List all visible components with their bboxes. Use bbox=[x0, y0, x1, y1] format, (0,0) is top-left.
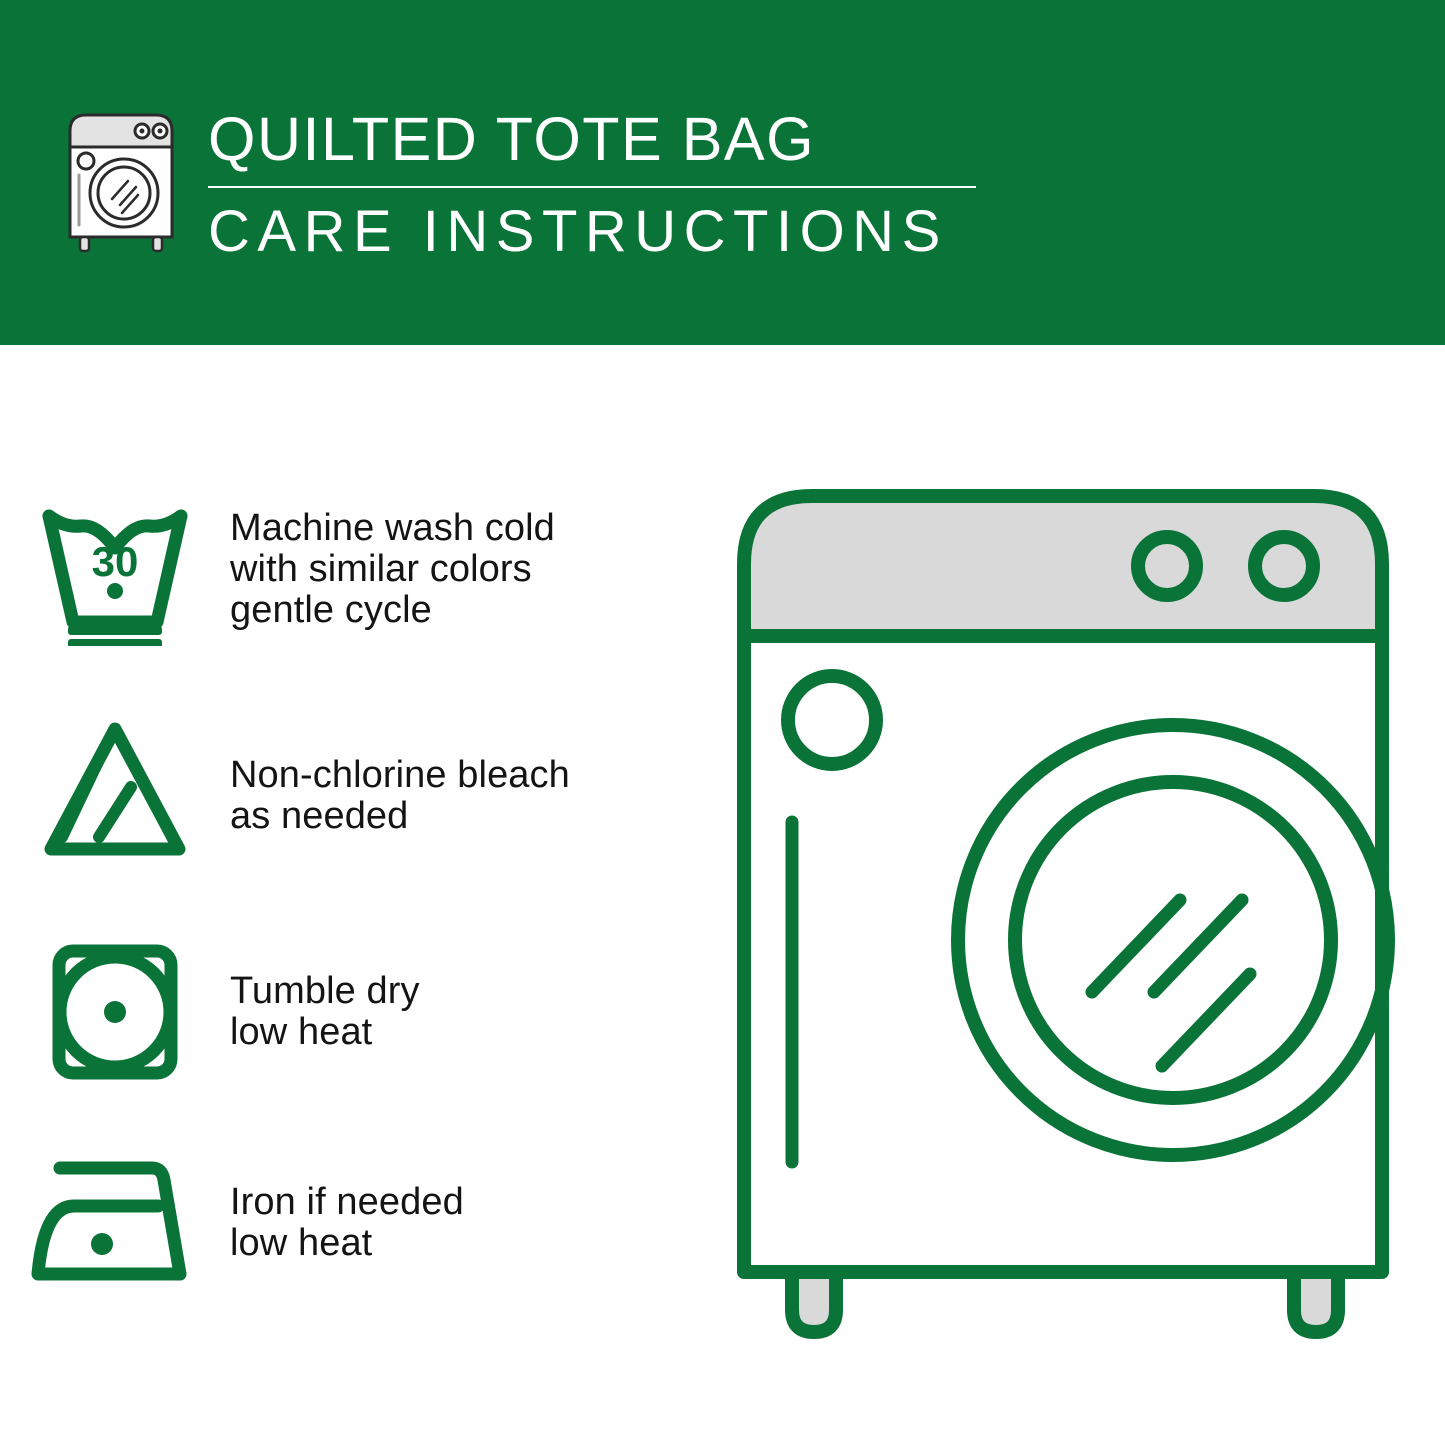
iron-icon bbox=[0, 1152, 230, 1286]
care-label-iron: Iron if needed low heat bbox=[230, 1152, 464, 1264]
care-line: Machine wash cold bbox=[230, 508, 555, 549]
care-row-iron: Iron if needed low heat bbox=[0, 1152, 700, 1286]
washing-machine-icon bbox=[62, 103, 180, 255]
tumble-dry-icon bbox=[0, 933, 230, 1087]
page-subtitle: CARE INSTRUCTIONS bbox=[208, 198, 998, 266]
care-row-bleach: Non-chlorine bleach as needed bbox=[0, 711, 700, 865]
bleach-triangle-icon bbox=[0, 711, 230, 865]
care-line: as needed bbox=[230, 796, 570, 837]
care-label-bleach: Non-chlorine bleach as needed bbox=[230, 711, 570, 837]
care-row-machine-wash: 30 Machine wash cold with similar colors… bbox=[0, 492, 700, 646]
care-label-machine-wash: Machine wash cold with similar colors ge… bbox=[230, 492, 555, 631]
care-line: Tumble dry bbox=[230, 971, 420, 1012]
care-line: low heat bbox=[230, 1012, 420, 1053]
header-banner: QUILTED TOTE BAG CARE INSTRUCTIONS bbox=[0, 0, 1445, 345]
title-divider bbox=[208, 186, 976, 188]
page-title: QUILTED TOTE BAG bbox=[208, 104, 998, 174]
header-text: QUILTED TOTE BAG CARE INSTRUCTIONS bbox=[208, 104, 998, 266]
wash-temperature-label: 30 bbox=[92, 538, 139, 585]
care-line: low heat bbox=[230, 1223, 464, 1264]
knob-icon bbox=[1255, 537, 1313, 595]
wash-tub-icon: 30 bbox=[0, 492, 230, 646]
care-line: Iron if needed bbox=[230, 1182, 464, 1223]
care-row-tumble-dry: Tumble dry low heat bbox=[0, 933, 700, 1087]
knob-icon bbox=[1138, 537, 1196, 595]
washer-leg bbox=[792, 1272, 836, 1332]
care-label-tumble-dry: Tumble dry low heat bbox=[230, 933, 420, 1053]
washing-machine-illustration bbox=[718, 470, 1408, 1360]
care-line: Non-chlorine bleach bbox=[230, 755, 570, 796]
washer-leg bbox=[1294, 1272, 1338, 1332]
care-line: gentle cycle bbox=[230, 590, 555, 631]
care-instructions-page: QUILTED TOTE BAG CARE INSTRUCTIONS 30 bbox=[0, 0, 1445, 1445]
care-instruction-list: 30 Machine wash cold with similar colors… bbox=[0, 345, 700, 1445]
care-line: with similar colors bbox=[230, 549, 555, 590]
